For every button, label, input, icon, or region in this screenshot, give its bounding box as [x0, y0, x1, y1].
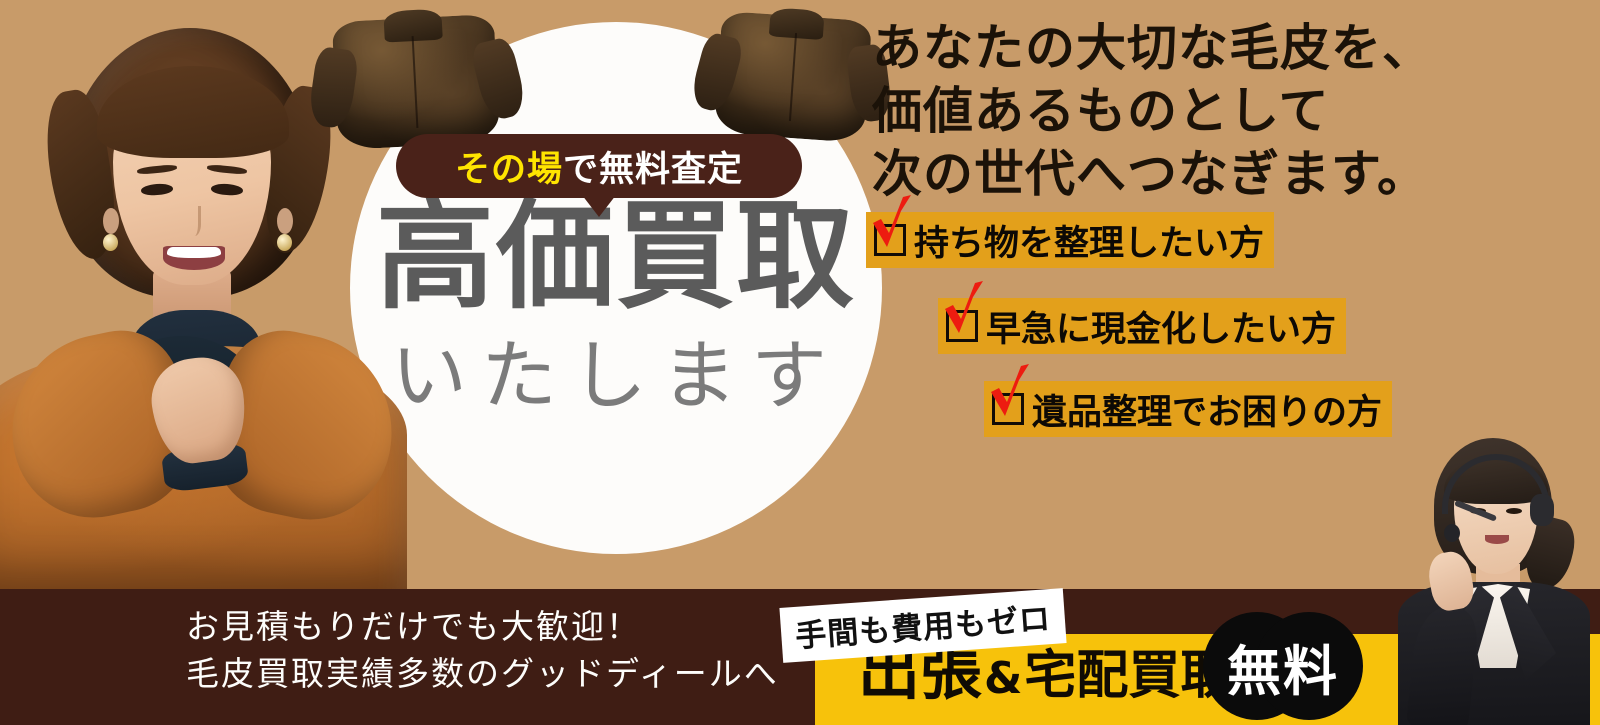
checklist-item[interactable]: 早急に現金化したい方 [938, 298, 1346, 354]
checkbox-icon[interactable] [946, 310, 978, 342]
model-nose [185, 206, 201, 236]
checklist-item[interactable]: 持ち物を整理したい方 [866, 212, 1274, 268]
headset-mic-icon [1444, 524, 1460, 542]
checklist-item[interactable]: 遺品整理でお困りの方 [984, 381, 1392, 437]
headset-earpiece-icon [1530, 494, 1554, 526]
model-ear-right [277, 208, 293, 234]
checkbox-icon[interactable] [992, 393, 1024, 425]
model-mouth [163, 246, 225, 270]
operator-mouth [1485, 535, 1509, 544]
check-mark-icon [985, 362, 1035, 424]
bottom-tagline-line-1: お見積もりだけでも大歓迎！ [186, 604, 779, 651]
check-mark-icon [939, 279, 989, 341]
fur-buyback-banner: その場で無料査定 高価買取 いたします あなたの大切な毛皮を、 価値あるものとし… [0, 0, 1600, 725]
fur-coat-collar [769, 7, 825, 40]
operator-photo [1382, 432, 1598, 725]
right-headline-line-3: 次の世代へつなぎます。 [872, 142, 1433, 205]
right-headline-line-1: あなたの大切な毛皮を、 [872, 16, 1433, 79]
bottom-tagline-line-2: 毛皮買取実績多数のグッドディールへ [186, 651, 779, 698]
cta-service-rest: 宅配買取 [1024, 646, 1232, 706]
fur-coat-left-image [332, 14, 500, 150]
model-ear-left [103, 208, 119, 234]
free-badge-label: 無料 [1203, 612, 1363, 720]
bottom-tagline: お見積もりだけでも大歓迎！ 毛皮買取実績多数のグッドディールへ [186, 604, 779, 698]
checklist-item-label: 早急に現金化したい方 [986, 301, 1336, 352]
checklist-item-label: 持ち物を整理したい方 [914, 215, 1264, 266]
badge-plain-text: で無料査定 [563, 150, 743, 190]
main-headline-kouka-kaitori: 高価買取 [352, 196, 880, 316]
fur-coat-right-image [714, 11, 872, 143]
model-earring-left [103, 234, 118, 251]
free-appraisal-badge: その場で無料査定 [396, 134, 802, 198]
main-headline-sub-itashimasu: いたします [352, 338, 880, 414]
free-badge: 無料 [1203, 612, 1363, 720]
right-headline-line-2: 価値あるものとして [872, 79, 1433, 142]
free-appraisal-badge-text: その場で無料査定 [455, 141, 743, 192]
model-earring-right [277, 234, 292, 251]
cta-service-amp: & [982, 653, 1024, 704]
right-headline: あなたの大切な毛皮を、 価値あるものとして 次の世代へつなぎます。 [872, 16, 1433, 205]
badge-highlight-text: その場 [455, 150, 563, 190]
checklist-item-label: 遺品整理でお困りの方 [1032, 384, 1382, 435]
